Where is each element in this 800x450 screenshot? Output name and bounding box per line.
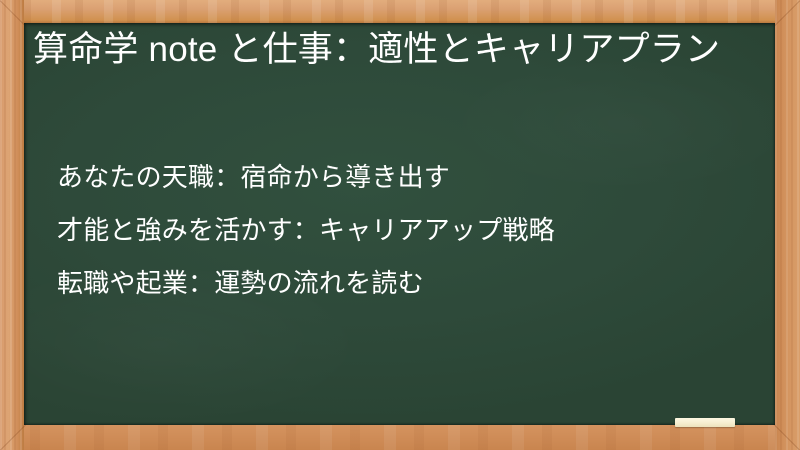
chalkboard-content: 算命学 note と仕事：適性とキャリアプラン あなたの天職：宿命から導き出す … xyxy=(24,23,775,425)
slide-title: 算命学 note と仕事：適性とキャリアプラン xyxy=(33,27,733,73)
bullet-list: あなたの天職：宿命から導き出す 才能と強みを活かす：キャリアアップ戦略 転職や起… xyxy=(57,151,747,310)
blackboard-slide: 算命学 note と仕事：適性とキャリアプラン あなたの天職：宿命から導き出す … xyxy=(0,0,800,450)
bullet-item-1: あなたの天職：宿命から導き出す xyxy=(57,151,747,204)
frame-rail-bottom xyxy=(0,425,800,450)
frame-rail-left xyxy=(0,0,24,450)
chalkboard-surface: 算命学 note と仕事：適性とキャリアプラン あなたの天職：宿命から導き出す … xyxy=(24,23,775,425)
frame-rail-top xyxy=(0,0,800,23)
bullet-item-2: 才能と強みを活かす：キャリアアップ戦略 xyxy=(57,204,747,257)
chalk-stick xyxy=(675,418,735,427)
frame-rail-right xyxy=(775,0,800,450)
bullet-item-3: 転職や起業：運勢の流れを読む xyxy=(57,257,747,310)
